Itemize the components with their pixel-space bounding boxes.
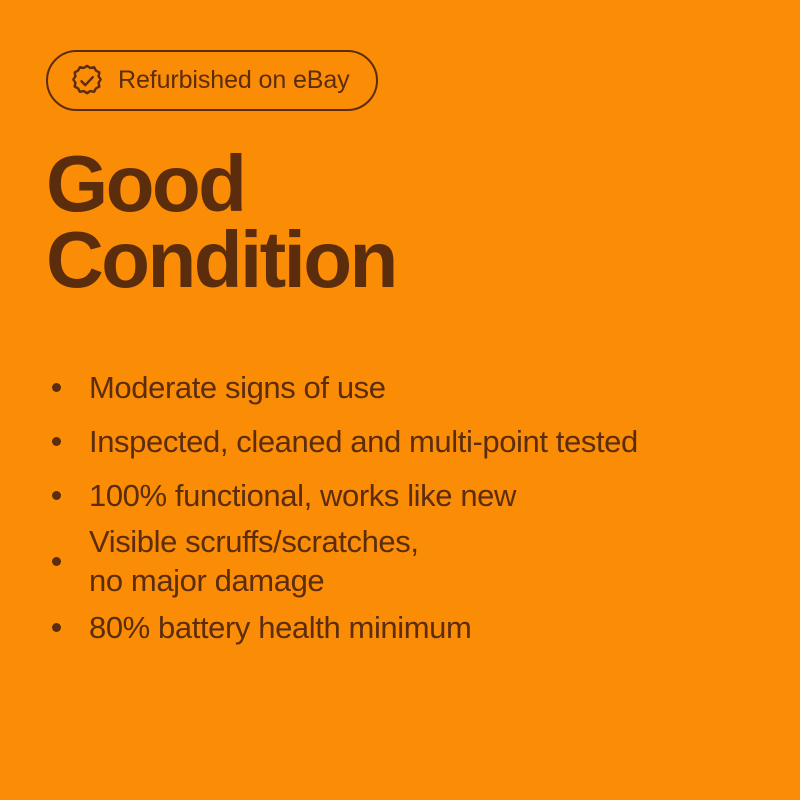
list-item-label: Visible scruffs/scratches, no major dama… — [89, 522, 419, 600]
list-item-label: Moderate signs of use — [89, 368, 386, 407]
verified-rosette-check-icon — [70, 64, 104, 98]
list-item: Visible scruffs/scratches, no major dama… — [52, 522, 762, 600]
refurbished-condition-card: Refurbished on eBay Good Condition Moder… — [0, 0, 800, 800]
bullet-icon — [52, 557, 61, 566]
bullet-icon — [52, 383, 61, 392]
bullet-icon — [52, 491, 61, 500]
bullet-icon — [52, 437, 61, 446]
bullet-icon — [52, 623, 61, 632]
list-item: 100% functional, works like new — [52, 468, 762, 522]
condition-feature-list: Moderate signs of use Inspected, cleaned… — [52, 360, 762, 654]
refurbished-badge: Refurbished on eBay — [46, 50, 378, 111]
list-item-label: 80% battery health minimum — [89, 608, 471, 647]
page-title: Good Condition — [46, 146, 396, 298]
list-item-label: 100% functional, works like new — [89, 476, 516, 515]
list-item: 80% battery health minimum — [52, 600, 762, 654]
refurbished-badge-label: Refurbished on eBay — [118, 68, 350, 93]
list-item: Moderate signs of use — [52, 360, 762, 414]
list-item: Inspected, cleaned and multi-point teste… — [52, 414, 762, 468]
list-item-label: Inspected, cleaned and multi-point teste… — [89, 422, 638, 461]
